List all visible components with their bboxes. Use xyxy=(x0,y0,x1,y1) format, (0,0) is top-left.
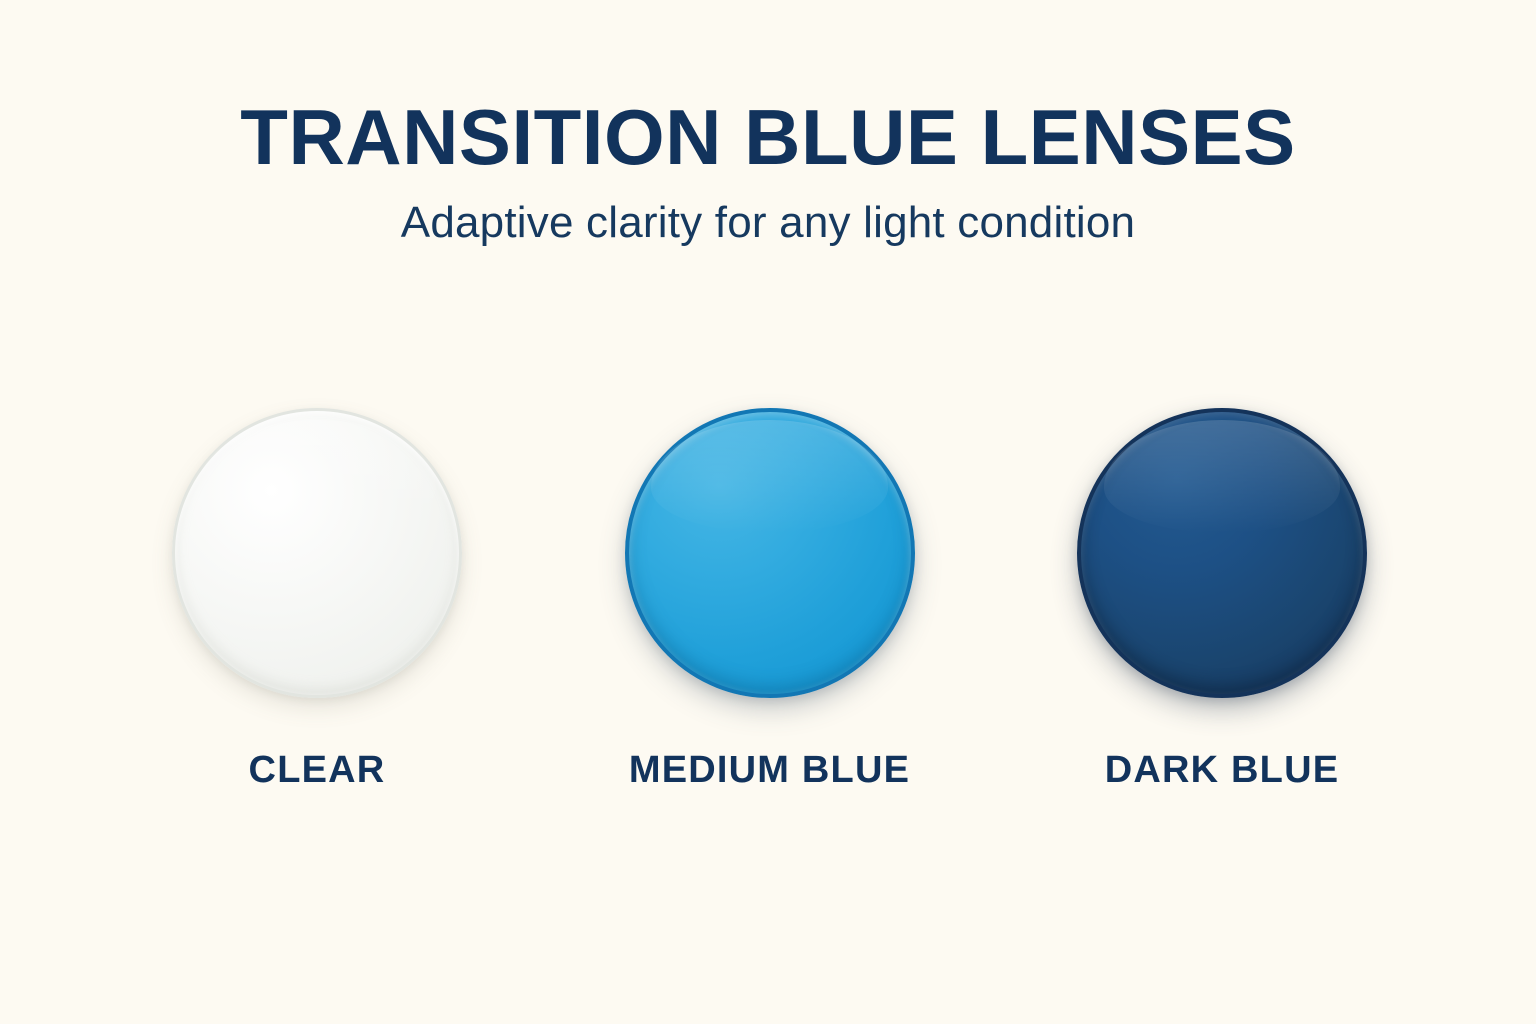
swatch-label-dark-blue: DARK BLUE xyxy=(1105,748,1340,792)
lens-showcase-poster: TRANSITION BLUE LENSES Adaptive clarity … xyxy=(0,0,1536,1024)
swatch-item-medium-blue[interactable]: MEDIUM BLUE xyxy=(625,408,915,792)
page-title: TRANSITION BLUE LENSES xyxy=(0,92,1536,182)
poster-header: TRANSITION BLUE LENSES Adaptive clarity … xyxy=(0,92,1536,250)
swatch-label-clear: CLEAR xyxy=(249,748,386,792)
page-subtitle: Adaptive clarity for any light condition xyxy=(0,196,1536,250)
lens-circle-icon-clear[interactable] xyxy=(172,408,462,698)
swatch-label-medium-blue: MEDIUM BLUE xyxy=(629,748,910,792)
lens-circle-icon-dark-blue[interactable] xyxy=(1077,408,1367,698)
swatch-item-clear[interactable]: CLEAR xyxy=(172,408,462,792)
lens-circle-icon-medium-blue[interactable] xyxy=(625,408,915,698)
lens-swatch-row: CLEAR MEDIUM BLUE DARK BLUE xyxy=(172,408,1367,808)
swatch-item-dark-blue[interactable]: DARK BLUE xyxy=(1077,408,1367,792)
